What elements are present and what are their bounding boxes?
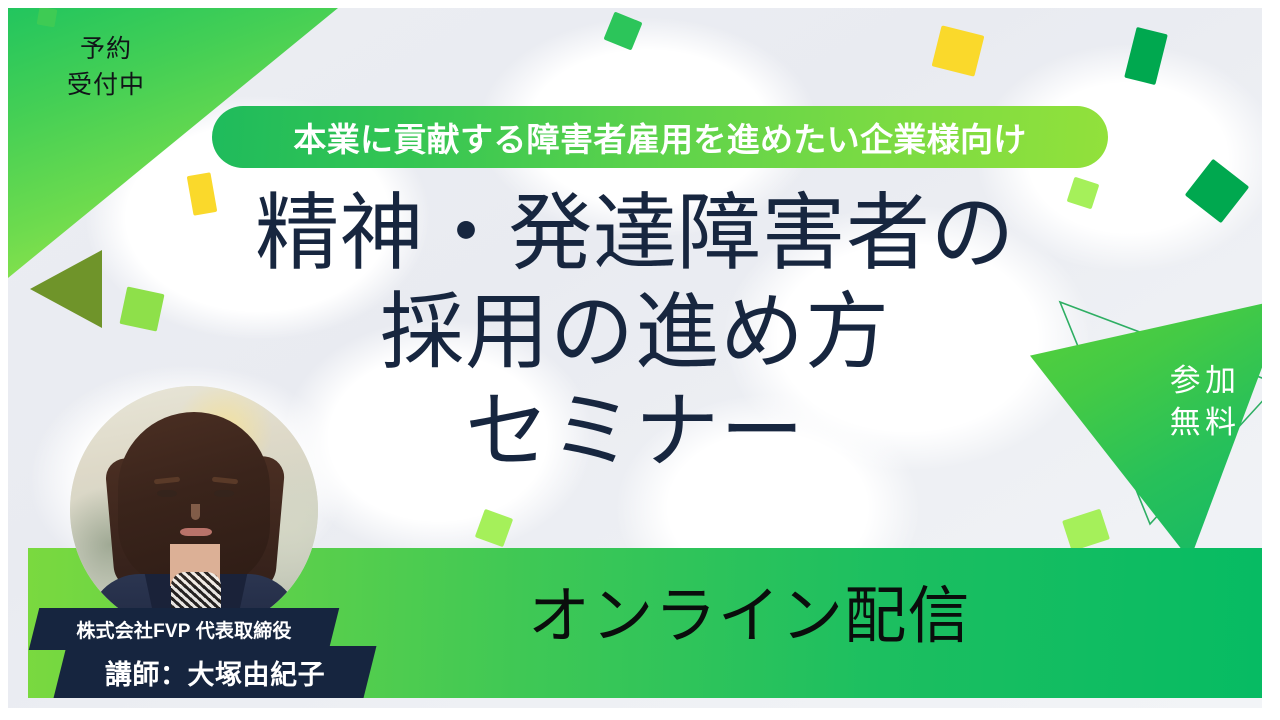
free-badge-label: 参加 無料 — [1150, 360, 1260, 444]
subtitle-pill: 本業に貢献する障害者雇用を進めたい企業様向け — [212, 106, 1108, 168]
seminar-banner: 予約 受付中 本業に貢献する障害者雇用を進めたい企業様向け 精神・発達障害者の … — [0, 0, 1280, 720]
banner-artboard: 予約 受付中 本業に貢献する障害者雇用を進めたい企業様向け 精神・発達障害者の … — [8, 8, 1262, 708]
confetti-square-lime-3 — [475, 509, 513, 547]
subtitle-pill-label: 本業に貢献する障害者雇用を進めたい企業様向け — [293, 113, 1026, 161]
confetti-square-green-3 — [603, 11, 642, 50]
avatar-mouth — [180, 528, 212, 536]
avatar-eye-right — [214, 490, 234, 497]
avatar-eye-left — [157, 490, 177, 497]
delivery-mode-label: オンライン配信 — [528, 586, 971, 648]
speaker-role-label: 株式会社FVP 代表取締役 — [34, 608, 334, 650]
headline-line-2: 採用の進め方 — [8, 283, 1262, 382]
confetti-square-green-1 — [1124, 27, 1168, 85]
speaker-name-label: 講師：大塚由紀子 — [60, 646, 370, 698]
avatar — [70, 386, 318, 634]
headline-line-1: 精神・発達障害者の — [8, 184, 1262, 283]
confetti-square-yellow-2 — [932, 25, 985, 76]
confetti-square-green-4 — [37, 8, 58, 27]
avatar-nose — [191, 504, 200, 520]
reservation-badge-label: 予約 受付中 — [36, 32, 176, 103]
